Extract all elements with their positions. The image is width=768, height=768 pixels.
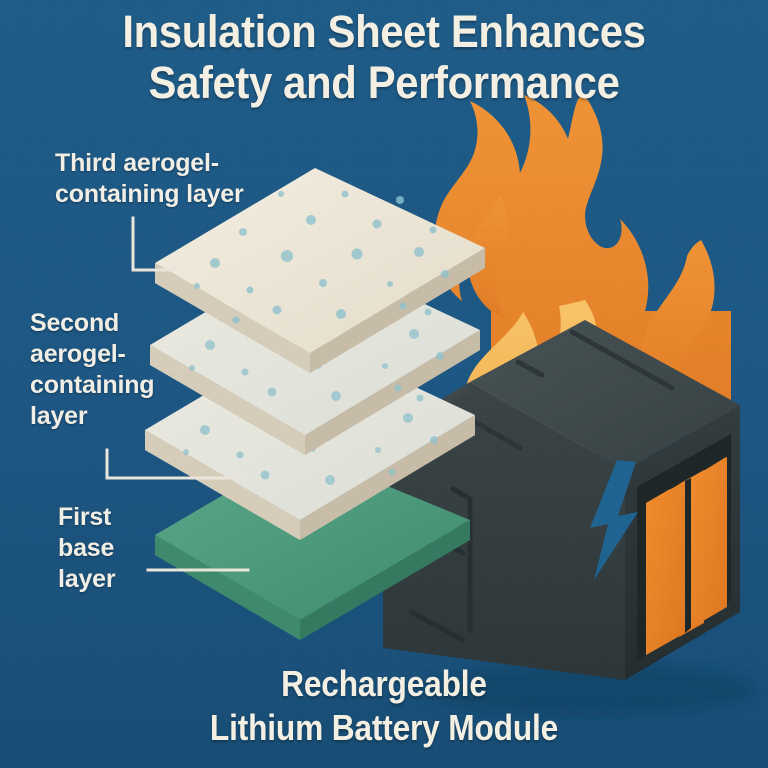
- label-first-base-layer: First base layer: [58, 502, 168, 595]
- infographic-canvas: Insulation Sheet Enhances Safety and Per…: [0, 0, 768, 768]
- title-line-2: Safety and Performance: [27, 57, 741, 108]
- bottom-caption: Rechargeable Lithium Battery Module: [46, 662, 722, 750]
- caption-line-2: Lithium Battery Module: [46, 706, 722, 750]
- caption-line-1: Rechargeable: [46, 662, 722, 706]
- page-title: Insulation Sheet Enhances Safety and Per…: [27, 6, 741, 108]
- label-third-aerogel-layer: Third aerogel-containing layer: [55, 148, 285, 210]
- title-line-1: Insulation Sheet Enhances: [27, 6, 741, 57]
- label-second-aerogel-layer: Second aerogel-containing layer: [30, 308, 190, 432]
